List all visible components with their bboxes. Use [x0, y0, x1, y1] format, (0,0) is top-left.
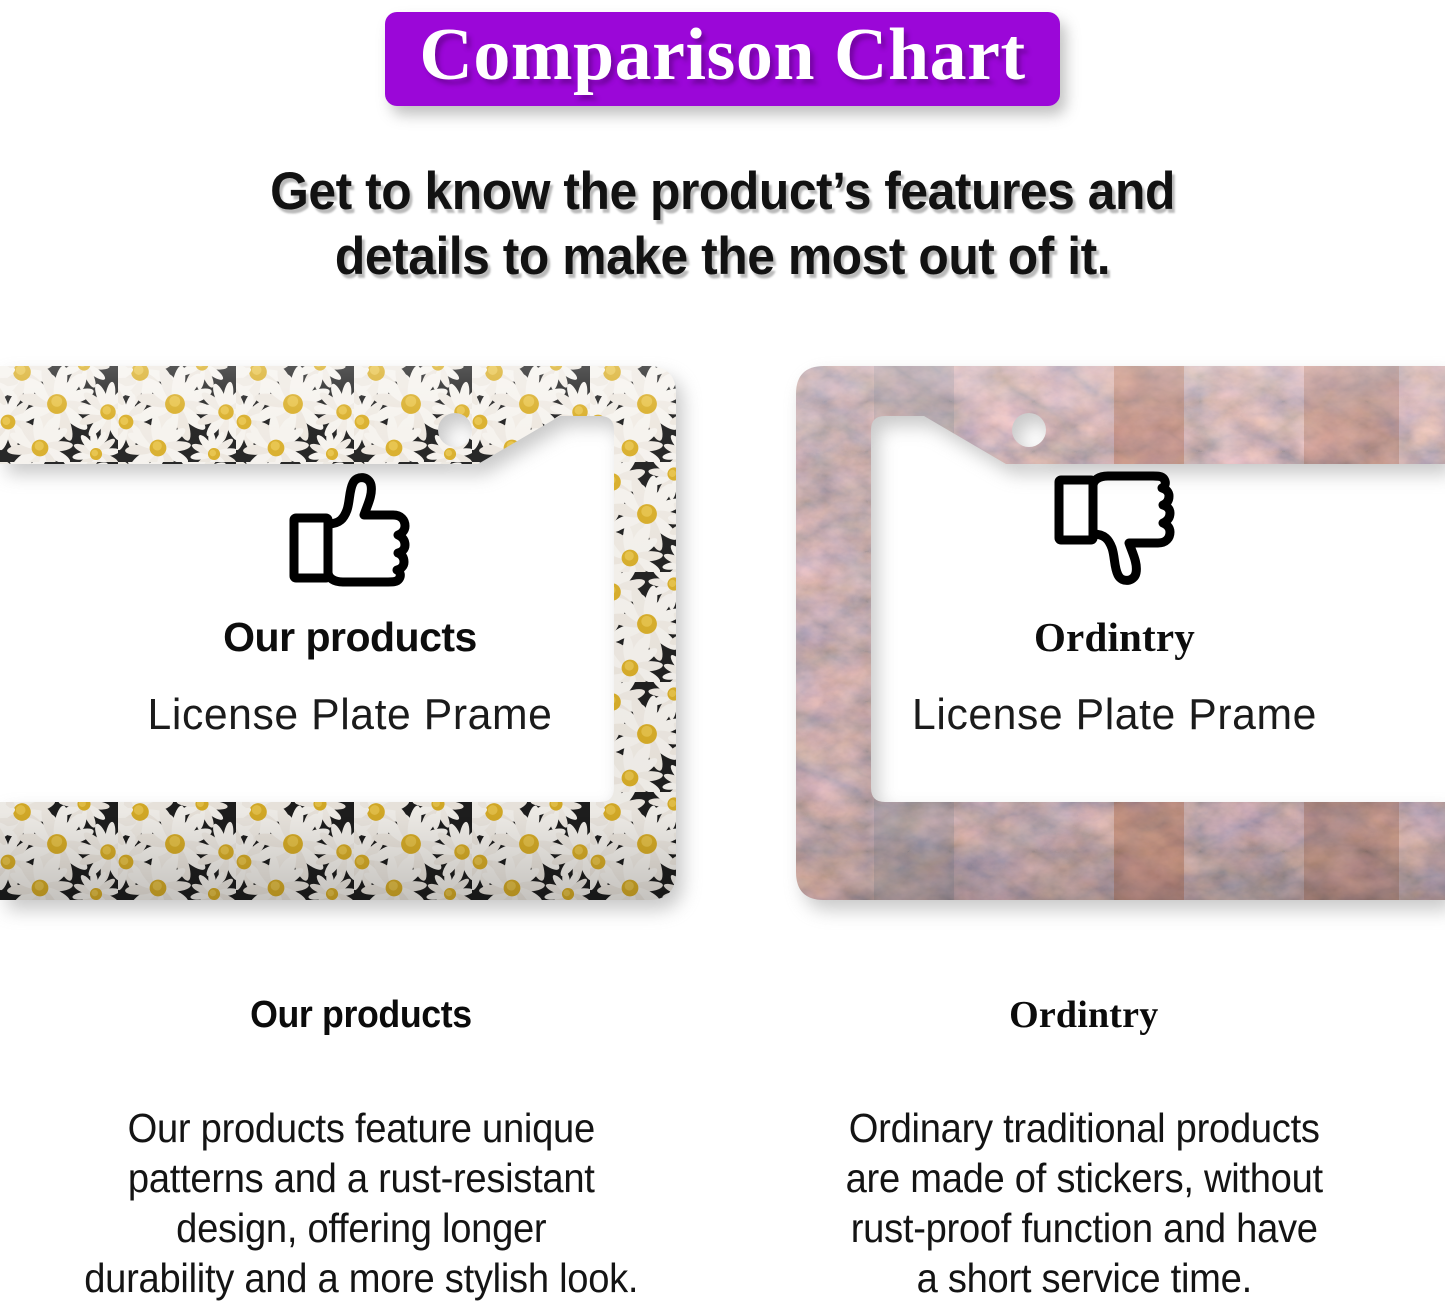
product-showcase-ordinary: Ordintry License Plate Prame	[784, 352, 1445, 912]
title-banner-wrapper: Comparison Chart	[0, 12, 1445, 106]
description-column-ordinary: Ordintry Ordinary traditional products a…	[723, 995, 1445, 1314]
description-line: a short service time.	[774, 1253, 1394, 1303]
description-column-ours: Our products Our products feature unique…	[0, 995, 723, 1314]
column-heading-ordinary: Ordintry	[723, 995, 1445, 1037]
product-showcase-ours: Our products License Plate Prame	[0, 352, 700, 912]
column-heading-ours-text: Our products	[250, 995, 472, 1037]
title-banner: Comparison Chart	[385, 12, 1059, 106]
description-line: durability and a more stylish look.	[48, 1253, 675, 1303]
comparison-descriptions: Our products Our products feature unique…	[0, 995, 1445, 1314]
plate-body-rusty	[784, 352, 1445, 912]
description-line: Our products feature unique	[48, 1103, 675, 1153]
license-plate-frame-floral	[0, 352, 700, 912]
page-title: Comparison Chart	[419, 18, 1025, 92]
description-line: rust-proof function and have	[774, 1203, 1394, 1253]
page-subtitle: Get to know the product’s features and d…	[43, 160, 1401, 289]
description-line: patterns and a rust-resistant	[48, 1153, 675, 1203]
plate-body-floral	[0, 352, 700, 912]
description-line: are made of stickers, without	[774, 1153, 1394, 1203]
description-line: Ordinary traditional products	[774, 1103, 1394, 1153]
column-heading-ours: Our products	[0, 995, 723, 1037]
description-text-ours: Our products feature unique patterns and…	[0, 1103, 723, 1303]
description-text-ordinary: Ordinary traditional products are made o…	[723, 1103, 1445, 1303]
subtitle-line-1: Get to know the product’s features and	[43, 160, 1401, 225]
license-plate-frame-rusty	[784, 352, 1445, 912]
column-heading-ordinary-text: Ordintry	[1009, 995, 1158, 1037]
description-line: design, offering longer	[48, 1203, 675, 1253]
subtitle-line-2: details to make the most out of it.	[43, 225, 1401, 290]
